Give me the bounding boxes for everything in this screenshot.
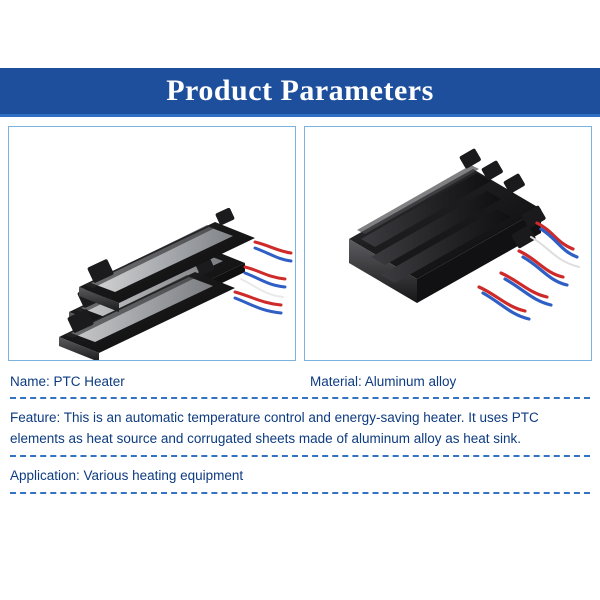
right-photo-canvas — [305, 127, 591, 360]
divider-3 — [10, 492, 590, 495]
spec-feature: Feature: This is an automatic temperatur… — [10, 407, 590, 449]
header-underline — [0, 114, 600, 117]
spec-material: Material: Aluminum alloy — [310, 372, 590, 391]
spec-application: Application: Various heating equipment — [10, 465, 590, 486]
left-photo-canvas — [9, 127, 295, 360]
divider-2 — [10, 455, 590, 458]
divider-1 — [10, 397, 590, 400]
header: Product Parameters — [0, 68, 600, 118]
page-title: Product Parameters — [166, 76, 434, 106]
spec-list: Name: PTC Heater Material: Aluminum allo… — [10, 372, 590, 502]
ptc-heater-photo-left — [8, 126, 296, 361]
header-bar: Product Parameters — [0, 68, 600, 114]
product-parameters-page: Product Parameters — [0, 0, 600, 600]
product-image-panels — [8, 126, 592, 361]
spec-name: Name: PTC Heater — [10, 372, 310, 391]
right-heater-illustration — [305, 127, 591, 360]
spec-row-name-material: Name: PTC Heater Material: Aluminum allo… — [10, 372, 590, 391]
ptc-heater-photo-right — [304, 126, 592, 361]
left-heater-illustration — [9, 127, 295, 360]
